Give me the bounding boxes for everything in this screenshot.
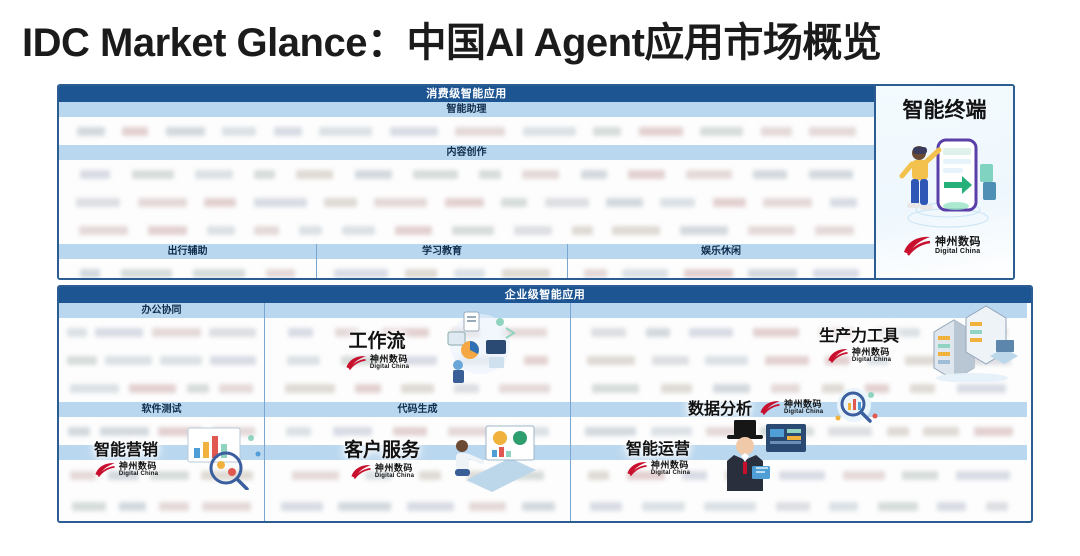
vendor-logo [684, 269, 733, 278]
vendor-logo [515, 427, 549, 436]
vendor-logo [592, 384, 639, 393]
vendor-logo [401, 384, 434, 393]
vendor-logo [254, 198, 307, 207]
vendor-logo [705, 356, 748, 365]
brand-name-cn: 神州数码 [935, 237, 981, 248]
vendor-logo [910, 384, 935, 393]
vendor-logo [405, 269, 437, 278]
vendor-logo [686, 170, 732, 179]
vendor-logo [159, 502, 189, 511]
vendor-logo [937, 502, 966, 511]
vendor-logo [956, 471, 1010, 480]
consumer-applications-panel: 消费级智能应用 智能助理 内容创作 出行辅助 学习教育 娱乐休闲 智能终端 [57, 84, 1015, 280]
vendor-logo [338, 502, 391, 511]
vendor-logo [210, 356, 256, 365]
vendor-logo [923, 427, 959, 436]
digital-china-logo: 神州数码 Digital China [902, 234, 981, 257]
vendor-logo [874, 328, 920, 337]
digital-china-swoosh-icon [902, 234, 932, 257]
vendor-logo [865, 384, 889, 393]
column-workflow: . [264, 303, 570, 402]
logo-row [571, 460, 1027, 491]
vendor-logo [627, 471, 665, 480]
vendor-logo [515, 471, 544, 480]
vendor-logo [581, 170, 607, 179]
vendor-logo [939, 328, 965, 337]
vendor-logo [452, 328, 480, 337]
logo-row [265, 346, 570, 374]
vendor-logo [166, 127, 205, 136]
vendor-logo [501, 198, 527, 207]
vendor-logo [502, 269, 550, 278]
vendor-logo [867, 356, 889, 365]
vendor-logo [454, 269, 485, 278]
logo-row [571, 318, 1027, 346]
vendor-logo [661, 384, 692, 393]
vendor-logo [593, 127, 621, 136]
vendor-logo [95, 328, 143, 337]
vendor-logo [287, 356, 320, 365]
vendor-logo [700, 127, 743, 136]
vendor-logo [887, 427, 909, 436]
page-title: IDC Market Glance：中国AI Agent应用市场概览 [22, 8, 1067, 70]
vendor-logo [419, 471, 441, 480]
logo-row [59, 417, 264, 445]
vendor-logo [704, 502, 756, 511]
vendor-logo [219, 384, 253, 393]
vendor-logo [333, 427, 372, 436]
vendor-logo [652, 356, 689, 365]
subsection-header-smart-assistant: 智能助理 [59, 102, 874, 117]
logo-row [265, 491, 570, 522]
vendor-logo [646, 328, 670, 337]
enterprise-applications-panel: 企业级智能应用 办公协同 . . 软件测试 代码生成 [57, 285, 1033, 523]
vendor-logo [828, 427, 872, 436]
subsection-header-software-testing: 软件测试 [59, 402, 264, 417]
vendor-logo [122, 127, 148, 136]
vendor-logo [957, 384, 1006, 393]
logo-row [265, 374, 570, 402]
vendor-logo [121, 269, 172, 278]
vendor-logo [76, 198, 120, 207]
vendor-logo [590, 502, 622, 511]
vendor-logo [193, 269, 245, 278]
vendor-logo [765, 356, 809, 365]
vendor-logo [100, 427, 149, 436]
vendor-logo [355, 384, 381, 393]
vendor-logo [985, 328, 1007, 337]
logo-row [59, 216, 874, 244]
subsection-header-learning-education: 学习教育 [317, 244, 567, 259]
vendor-logo [748, 269, 797, 278]
vendor-logo [748, 226, 795, 235]
vendor-logo [382, 328, 429, 337]
vendor-logo [67, 356, 97, 365]
vendor-logo [335, 328, 359, 337]
vendor-logo [274, 127, 302, 136]
column-customer-service: . [264, 445, 570, 523]
column-entertainment-leisure: 娱乐休闲 [567, 244, 874, 280]
vendor-logo [651, 427, 692, 436]
vendor-logo [201, 471, 253, 480]
vendor-logo [355, 170, 392, 179]
vendor-logo [77, 127, 105, 136]
logo-row [59, 374, 264, 402]
vendor-logo [68, 427, 90, 436]
vendor-logo [445, 198, 484, 207]
vendor-logo [843, 471, 885, 480]
feature-card-smart-terminal: 智能终端 [874, 86, 1013, 278]
vendor-logo [292, 471, 339, 480]
vendor-logo [296, 170, 333, 179]
vendor-logo [779, 471, 825, 480]
vendor-logo [448, 427, 493, 436]
subsection-header-blank: . [571, 445, 1027, 460]
vendor-logo [761, 127, 792, 136]
vendor-logo [545, 198, 589, 207]
logo-row [571, 417, 1027, 445]
vendor-logo [158, 427, 202, 436]
vendor-logo [639, 127, 683, 136]
vendor-logo [725, 471, 762, 480]
vendor-logo [905, 356, 951, 365]
vendor-logo [324, 198, 357, 207]
logo-row [59, 259, 316, 280]
vendor-logo [822, 384, 844, 393]
logo-row [59, 460, 264, 491]
vendor-logo [469, 502, 506, 511]
vendor-logo [825, 356, 850, 365]
vendor-logo [502, 328, 547, 337]
vendor-logo [524, 356, 548, 365]
vendor-logo [660, 198, 695, 207]
vendor-logo [753, 328, 799, 337]
vendor-logo [374, 198, 427, 207]
vendor-logo [642, 502, 685, 511]
vendor-logo [365, 471, 392, 480]
vendor-logo [207, 226, 235, 235]
vendor-logo [771, 384, 800, 393]
vendor-logo [195, 170, 233, 179]
vendor-logo [467, 471, 488, 480]
vendor-logo [299, 226, 322, 235]
vendor-logo [119, 502, 146, 511]
vendor-logo [622, 269, 668, 278]
vendor-logo [80, 269, 100, 278]
vendor-logo [70, 471, 96, 480]
vendor-logo [819, 328, 854, 337]
feature-title: 智能终端 [876, 86, 1013, 124]
vendor-logo [523, 127, 576, 136]
smart-terminal-illustration [886, 126, 1006, 231]
vendor-logo [342, 226, 375, 235]
vendor-logo [160, 356, 202, 365]
subsection-header-office-collaboration: 办公协同 [59, 303, 264, 318]
vendor-logo [286, 427, 311, 436]
vendor-logo [455, 127, 505, 136]
vendor-logo [288, 328, 313, 337]
vendor-logo [689, 328, 733, 337]
logo-row [59, 318, 264, 346]
column-code-generation: 代码生成 [264, 402, 570, 445]
subsection-header-blank: . [265, 445, 570, 460]
vendor-logo [706, 427, 745, 436]
vendor-logo [776, 502, 810, 511]
logo-row [59, 188, 874, 216]
vendor-logo [514, 226, 552, 235]
column-productivity-tools: . [570, 303, 1027, 402]
vendor-logo [763, 198, 812, 207]
vendor-logo [187, 384, 209, 393]
vendor-logo [815, 226, 854, 235]
vendor-logo [319, 127, 372, 136]
vendor-logo [813, 269, 859, 278]
column-smart-marketing: . [59, 445, 264, 523]
logo-row [265, 522, 570, 523]
vendor-logo [522, 170, 559, 179]
vendor-logo [572, 226, 593, 235]
logo-row [59, 522, 264, 523]
vendor-logo [254, 170, 275, 179]
subsection-header-blank: . [265, 303, 570, 318]
vendor-logo [459, 356, 503, 365]
vendor-logo [404, 356, 437, 365]
vendor-logo [680, 226, 728, 235]
subsection-header-entertainment-leisure: 娱乐休闲 [568, 244, 874, 259]
subsection-header-blank: . [571, 303, 1027, 318]
vendor-logo [70, 384, 119, 393]
vendor-logo [986, 502, 1008, 511]
vendor-logo [974, 427, 1013, 436]
vendor-logo [393, 427, 427, 436]
column-data-analysis: . [570, 402, 1027, 445]
subsection-header-blank: . [59, 445, 264, 460]
logo-row [265, 460, 570, 491]
column-office-collaboration: 办公协同 [59, 303, 264, 402]
subsection-header-travel-assistance: 出行辅助 [59, 244, 316, 259]
logo-row [59, 491, 264, 522]
vendor-logo [67, 328, 87, 337]
vendor-logo [105, 356, 152, 365]
logo-row [571, 346, 1027, 374]
vendor-logo [587, 356, 635, 365]
column-travel-assistance: 出行辅助 [59, 244, 316, 280]
vendor-logo [222, 127, 256, 136]
vendor-logo [760, 427, 814, 436]
logo-row [265, 318, 570, 346]
vendor-logo [682, 471, 707, 480]
vendor-logo [285, 384, 335, 393]
vendor-logo [829, 502, 858, 511]
vendor-logo [878, 502, 918, 511]
logo-row [59, 346, 264, 374]
vendor-logo [499, 384, 550, 393]
brand-name-en: Digital China [935, 248, 981, 255]
vendor-logo [454, 384, 479, 393]
column-learning-education: 学习教育 [316, 244, 567, 280]
logo-row [568, 259, 874, 280]
subsection-header-code-generation: 代码生成 [265, 402, 570, 417]
logo-row [571, 491, 1027, 522]
vendor-logo [202, 502, 251, 511]
vendor-logo [606, 198, 643, 207]
vendor-logo [628, 170, 665, 179]
vendor-logo [334, 269, 388, 278]
vendor-logo [809, 127, 856, 136]
vendor-logo [72, 502, 106, 511]
vendor-logo [150, 471, 189, 480]
subsection-header-content-creation: 内容创作 [59, 145, 874, 160]
vendor-logo [452, 226, 494, 235]
consumer-section-header: 消费级智能应用 [59, 86, 874, 102]
vendor-logo [80, 170, 110, 179]
vendor-logo [212, 427, 255, 436]
vendor-logo [588, 471, 609, 480]
vendor-logo [108, 471, 139, 480]
logo-row [571, 374, 1027, 402]
vendor-logo [132, 170, 174, 179]
vendor-logo [713, 198, 746, 207]
vendor-logo [129, 384, 176, 393]
vendor-logo [902, 471, 938, 480]
vendor-logo [209, 328, 256, 337]
vendor-logo [341, 356, 382, 365]
vendor-logo [395, 226, 432, 235]
logo-row [59, 117, 874, 145]
vendor-logo [968, 356, 1011, 365]
vendor-logo [413, 170, 458, 179]
vendor-logo [479, 170, 501, 179]
vendor-logo [612, 226, 660, 235]
vendor-logo [830, 198, 857, 207]
column-smart-operations: . [570, 445, 1027, 523]
vendor-logo [522, 502, 555, 511]
logo-row [59, 160, 874, 188]
vendor-logo [148, 226, 187, 235]
vendor-logo [713, 384, 750, 393]
vendor-logo [407, 502, 454, 511]
vendor-logo [138, 198, 187, 207]
logo-row [571, 522, 1027, 523]
vendor-logo [584, 269, 607, 278]
subsection-header-blank: . [571, 402, 1027, 417]
vendor-logo [266, 269, 295, 278]
vendor-logo [809, 170, 853, 179]
vendor-logo [254, 226, 279, 235]
logo-row [265, 417, 570, 445]
vendor-logo [390, 127, 438, 136]
vendor-logo [79, 226, 128, 235]
enterprise-section-header: 企业级智能应用 [59, 287, 1031, 303]
vendor-logo [585, 427, 636, 436]
logo-row [317, 259, 567, 280]
vendor-logo [204, 198, 236, 207]
vendor-logo [281, 502, 323, 511]
column-software-testing: 软件测试 [59, 402, 264, 445]
vendor-logo [591, 328, 626, 337]
vendor-logo [152, 328, 201, 337]
vendor-logo [753, 170, 787, 179]
